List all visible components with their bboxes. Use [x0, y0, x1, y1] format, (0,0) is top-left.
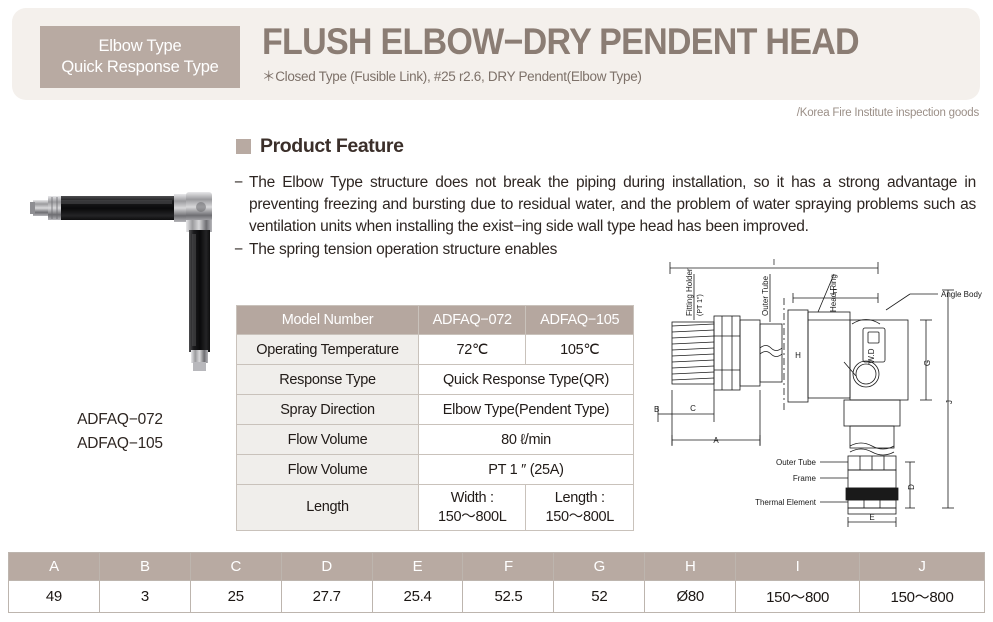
feature-dash: − — [234, 172, 249, 238]
spec-label: Flow Volume — [237, 455, 419, 485]
break-symbol — [760, 346, 782, 351]
feature-list-item: − The Elbow Type structure does not brea… — [234, 172, 976, 238]
page-title: FLUSH ELBOW−DRY PENDENT HEAD — [262, 22, 859, 62]
dim-header-J: J — [860, 553, 985, 581]
thread-hatching — [672, 324, 714, 380]
sprinkler-head — [193, 362, 206, 371]
callout-angle-body: Angle Body — [941, 290, 982, 299]
dim-header-G: G — [554, 553, 645, 581]
spec-value: Elbow Type(Pendent Type) — [419, 395, 634, 425]
dim-letter-B: B — [654, 405, 659, 414]
elbow-port — [196, 202, 206, 212]
dim-value-J: 150～800 — [860, 581, 985, 613]
badge-line-2: Quick Response Type — [61, 57, 218, 78]
frame — [848, 470, 896, 488]
photo-caption-1: ADFAQ−072 — [8, 408, 232, 432]
dim-header-B: B — [99, 553, 190, 581]
callout-frame: Frame — [793, 474, 817, 483]
photo-caption-2: ADFAQ−105 — [8, 432, 232, 456]
feature-text: The spring tension operation structure e… — [249, 239, 649, 261]
callout-fitting-holder: Fitting Holder — [685, 268, 694, 316]
product-feature-heading: Product Feature — [236, 135, 404, 158]
table-row: Model Number ADFAQ−072 ADFAQ−105 — [237, 306, 634, 335]
male-thread-end — [33, 200, 50, 216]
dim-header-D: D — [281, 553, 372, 581]
leader-angle-body — [886, 294, 910, 310]
dimension-header-row: A B C D E F G H I J — [9, 553, 985, 581]
callout-wd-mark: W.D — [867, 348, 876, 363]
pipe-highlight — [60, 200, 172, 204]
lower-flange — [844, 400, 900, 426]
spec-value: 80 ℓ/min — [419, 425, 634, 455]
product-spec-sheet: Elbow Type Quick Response Type FLUSH ELB… — [0, 0, 993, 622]
product-photo — [8, 182, 232, 394]
table-row: Spray Direction Elbow Type(Pendent Type) — [237, 395, 634, 425]
outer-tube-upper — [760, 324, 782, 382]
dim-header-C: C — [190, 553, 281, 581]
spec-value: Quick Response Type(QR) — [419, 365, 634, 395]
table-row: Flow Volume PT 1 ″ (25A) — [237, 455, 634, 485]
page-subtitle: ＊Closed Type (Fusible Link), #25 r2.6, D… — [262, 65, 911, 85]
spec-label: Spray Direction — [237, 395, 419, 425]
dim-value-E: 25.4 — [372, 581, 463, 613]
dimension-table: A B C D E F G H I J 49 3 25 27.7 25.4 52… — [8, 552, 985, 613]
title-block: FLUSH ELBOW−DRY PENDENT HEAD ＊Closed Typ… — [262, 22, 911, 85]
feature-dash: − — [234, 239, 249, 261]
dim-header-A: A — [9, 553, 100, 581]
certification-note: /Korea Fire Institute inspection goods — [797, 107, 979, 119]
lower-neck — [850, 426, 894, 448]
feature-text: The Elbow Type structure does not break … — [249, 172, 976, 238]
badge-line-1: Elbow Type — [99, 36, 182, 57]
dim-letter-I: I — [773, 258, 775, 267]
technical-drawing: Fitting Holder (PT 1″) Outer Tube Head R… — [648, 250, 993, 535]
hex-nut — [714, 316, 740, 390]
dim-letter-H: H — [795, 351, 801, 360]
dim-value-F: 52.5 — [463, 581, 554, 613]
dim-value-A: 49 — [9, 581, 100, 613]
table-row: Response Type Quick Response Type(QR) — [237, 365, 634, 395]
spec-value: 72℃ — [419, 335, 526, 365]
side-port — [853, 361, 879, 387]
spec-value: 105℃ — [526, 335, 634, 365]
callout-fitting-holder-sub: (PT 1″) — [697, 294, 704, 316]
spec-value: PT 1 ″ (25A) — [419, 455, 634, 485]
dim-letter-J: J — [945, 400, 954, 404]
thread-tip — [30, 202, 35, 214]
dim-letter-E: E — [869, 513, 874, 522]
spec-value: Length : 150～800L — [526, 485, 634, 531]
photo-captions: ADFAQ−072 ADFAQ−105 — [8, 408, 232, 456]
dim-header-E: E — [372, 553, 463, 581]
dim-value-B: 3 — [99, 581, 190, 613]
dim-letter-A: A — [713, 436, 719, 445]
dim-value-G: 52 — [554, 581, 645, 613]
callout-thermal-element: Thermal Element — [755, 498, 817, 507]
feature-list: − The Elbow Type structure does not brea… — [234, 172, 976, 262]
spec-value: Width : 150～800L — [419, 485, 526, 531]
thermal-element — [848, 500, 896, 508]
table-row: Length Width : 150～800L Length : 150～800… — [237, 485, 634, 531]
dim-header-H: H — [645, 553, 736, 581]
dim-value-I: 150～800 — [736, 581, 860, 613]
square-bullet-icon — [236, 139, 251, 154]
adapter — [740, 320, 760, 386]
wd-mark-box — [868, 332, 879, 343]
spec-label: Flow Volume — [237, 425, 419, 455]
head-ring — [808, 312, 850, 398]
pipe-highlight — [192, 234, 196, 346]
dim-header-F: F — [463, 553, 554, 581]
table-row: Operating Temperature 72℃ 105℃ — [237, 335, 634, 365]
dimension-value-row: 49 3 25 27.7 25.4 52.5 52 Ø80 150～800 15… — [9, 581, 985, 613]
dim-value-D: 27.7 — [281, 581, 372, 613]
dim-letter-F: F — [833, 288, 838, 297]
table-row: Flow Volume 80 ℓ/min — [237, 425, 634, 455]
dim-value-C: 25 — [190, 581, 281, 613]
hex-nut-left — [48, 196, 61, 220]
spec-value: ADFAQ−105 — [526, 306, 634, 335]
dim-letter-G: G — [923, 360, 932, 366]
feature-heading-label: Product Feature — [260, 135, 404, 158]
dim-letter-C: C — [690, 404, 696, 413]
elbow-collar — [174, 194, 188, 222]
callout-outer-tube-top: Outer Tube — [761, 275, 770, 316]
dim-value-H: Ø80 — [645, 581, 736, 613]
product-type-badge: Elbow Type Quick Response Type — [40, 26, 240, 88]
spec-value: ADFAQ−072 — [419, 306, 526, 335]
head-collar — [191, 350, 208, 363]
callout-outer-tube-bottom: Outer Tube — [776, 458, 817, 467]
header-banner: Elbow Type Quick Response Type FLUSH ELB… — [12, 8, 980, 100]
horizontal-pipe — [56, 196, 178, 220]
specification-table: Model Number ADFAQ−072 ADFAQ−105 Operati… — [236, 305, 634, 531]
spec-label: Length — [237, 485, 419, 531]
thread-band — [846, 488, 898, 500]
spec-label: Response Type — [237, 365, 419, 395]
dim-letter-D: D — [907, 484, 916, 490]
dim-header-I: I — [736, 553, 860, 581]
spec-label: Model Number — [237, 306, 419, 335]
spec-label: Operating Temperature — [237, 335, 419, 365]
